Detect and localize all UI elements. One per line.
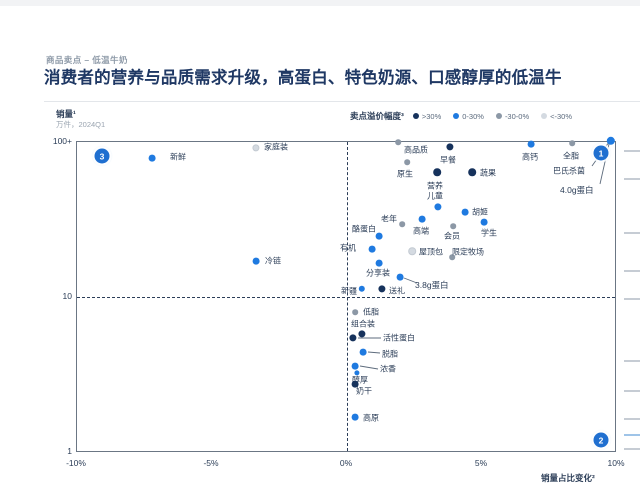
point-label: 限定牧场 [452,247,484,258]
point-label: 分享装 [366,268,390,279]
data-point[interactable] [376,260,383,267]
point-label: 屋顶包 [419,247,443,258]
legend-title: 卖点溢价幅度³ [350,110,404,122]
x-tick-neg5: -5% [181,458,241,468]
annotation-line [624,360,640,362]
legend-item-3[interactable]: <-30% [541,112,572,121]
point-label: 高品质 [404,145,428,156]
x-axis-title: 销量占比变化² [541,472,595,484]
point-label: 学生 [481,228,497,239]
annotation-line [624,418,640,420]
point-label: 高原 [363,413,379,424]
data-point[interactable] [352,414,359,421]
point-label: 会员 [444,231,460,242]
data-point[interactable] [352,309,358,315]
point-label: 脱脂 [382,349,398,360]
point-label: 活性蛋白 [383,333,415,344]
header-divider [44,101,640,102]
scatter-plot-area [76,141,616,452]
legend-label: -30-0% [505,112,529,121]
annotation-line [624,448,640,450]
badge-3[interactable]: 3 [95,149,110,164]
point-label: 送礼 [389,286,405,297]
point-label: 3.8g蛋白 [415,279,449,291]
point-label: 浓香 [380,364,396,375]
legend-swatch-icon [413,113,419,119]
legend-item-2[interactable]: -30-0% [496,112,529,121]
point-label: 老年 [381,214,397,225]
point-label: 酪蛋白 [352,224,376,235]
legend-label: <-30% [550,112,572,121]
point-label: 奶干 [356,386,372,397]
point-label: 高钙 [522,152,538,163]
point-label: 蔬果 [480,168,496,179]
annotation-line [624,390,640,392]
point-label: 原生 [397,169,413,180]
point-label: 低脂 [363,307,379,318]
annotation-line [624,150,640,152]
right-annotation-panel [622,134,640,454]
data-point[interactable] [352,363,359,370]
data-point[interactable] [376,233,383,240]
point-label: 全脂 [563,151,579,162]
y-tick-10: 10 [32,291,72,301]
point-label: 早餐 [440,155,456,166]
data-point[interactable] [468,168,476,176]
callout-label-pasteurized: 巴氏杀菌 [553,166,585,177]
annotation-line [624,270,640,272]
callout-label-protein40: 4.0g蛋白 [560,184,594,196]
point-label: 组合装 [351,319,375,330]
y-tick-1: 1 [32,446,72,456]
annotation-line [624,298,640,300]
annotation-line [624,178,640,180]
annotation-line [624,232,640,234]
legend-label: >30% [422,112,441,121]
data-point[interactable] [569,140,575,146]
legend-swatch-icon [541,113,547,119]
data-point[interactable] [369,246,376,253]
y-axis-subtitle: 万件，2024Q1 [56,119,105,130]
chart-legend: 卖点溢价幅度³ >30% 0-30% -30-0% <-30% [350,110,577,122]
annotation-line-accent [624,434,640,436]
top-strip [0,0,640,6]
badge-1[interactable]: 1 [594,146,609,161]
data-point[interactable] [395,139,401,145]
legend-item-0[interactable]: >30% [413,112,441,121]
data-point[interactable] [462,209,469,216]
point-label: 冷链 [265,256,281,267]
point-label: 有机 [340,243,356,254]
data-point[interactable] [253,258,260,265]
slide-eyebrow: 商品卖点 – 低温牛奶 [46,54,128,66]
x-tick-neg10: -10% [46,458,106,468]
legend-swatch-icon [496,113,502,119]
data-point[interactable] [433,168,441,176]
data-point[interactable] [399,221,405,227]
data-point[interactable] [408,247,416,255]
point-label: 新疆 [341,286,357,297]
y-ten-reference-line [77,297,615,298]
data-point[interactable] [450,223,456,229]
x-tick-10: 10% [586,458,640,468]
slide-canvas: 商品卖点 – 低温牛奶 消费者的营养与品质需求升级，高蛋白、特色奶源、口感醇厚的… [0,0,640,489]
legend-item-1[interactable]: 0-30% [453,112,484,121]
y-tick-100: 100+ [32,136,72,146]
data-point[interactable] [404,159,410,165]
data-point[interactable] [149,155,156,162]
point-label: 家庭装 [264,142,288,153]
point-label: 高端 [413,226,429,237]
point-label: 儿童 [427,191,443,202]
point-label: 新鲜 [170,152,186,163]
badge-2[interactable]: 2 [594,433,609,448]
point-label: 胡姬 [472,207,488,218]
data-point[interactable] [419,216,426,223]
legend-swatch-icon [453,113,459,119]
data-point[interactable] [397,274,404,281]
slide-headline: 消费者的营养与品质需求升级，高蛋白、特色奶源、口感醇厚的低温牛 [44,68,640,88]
data-point[interactable] [528,141,535,148]
legend-label: 0-30% [462,112,484,121]
x-tick-5: 5% [451,458,511,468]
data-point[interactable] [360,349,367,356]
data-point[interactable] [481,219,488,226]
x-tick-0: 0% [316,458,376,468]
